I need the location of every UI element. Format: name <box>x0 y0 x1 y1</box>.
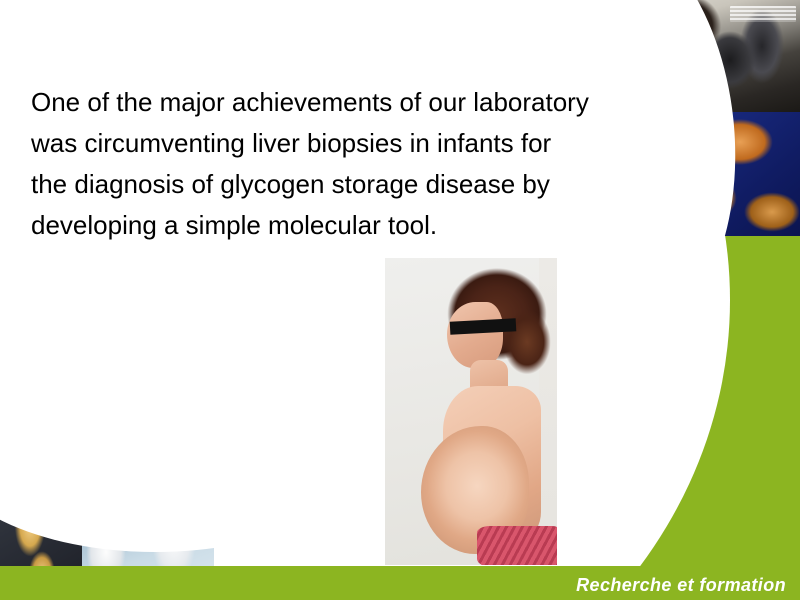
body-text-line: was circumventing liver biopsies in infa… <box>31 123 713 164</box>
photo-label-strip <box>730 6 796 22</box>
slide-body-text: One of the major achievements of our lab… <box>31 82 713 246</box>
footer-green-strip: Recherche et formation <box>0 566 800 600</box>
footer-brand-label: Recherche et formation <box>576 575 786 596</box>
presentation-slide: One of the major achievements of our lab… <box>0 0 800 600</box>
patient-face <box>447 302 503 368</box>
body-text-line: developing a simple molecular tool. <box>31 205 713 246</box>
patient-shorts <box>477 526 557 565</box>
body-text-line: One of the major achievements of our lab… <box>31 82 713 123</box>
patient-hepatomegaly-photo <box>385 258 557 565</box>
body-text-line: the diagnosis of glycogen storage diseas… <box>31 164 713 205</box>
